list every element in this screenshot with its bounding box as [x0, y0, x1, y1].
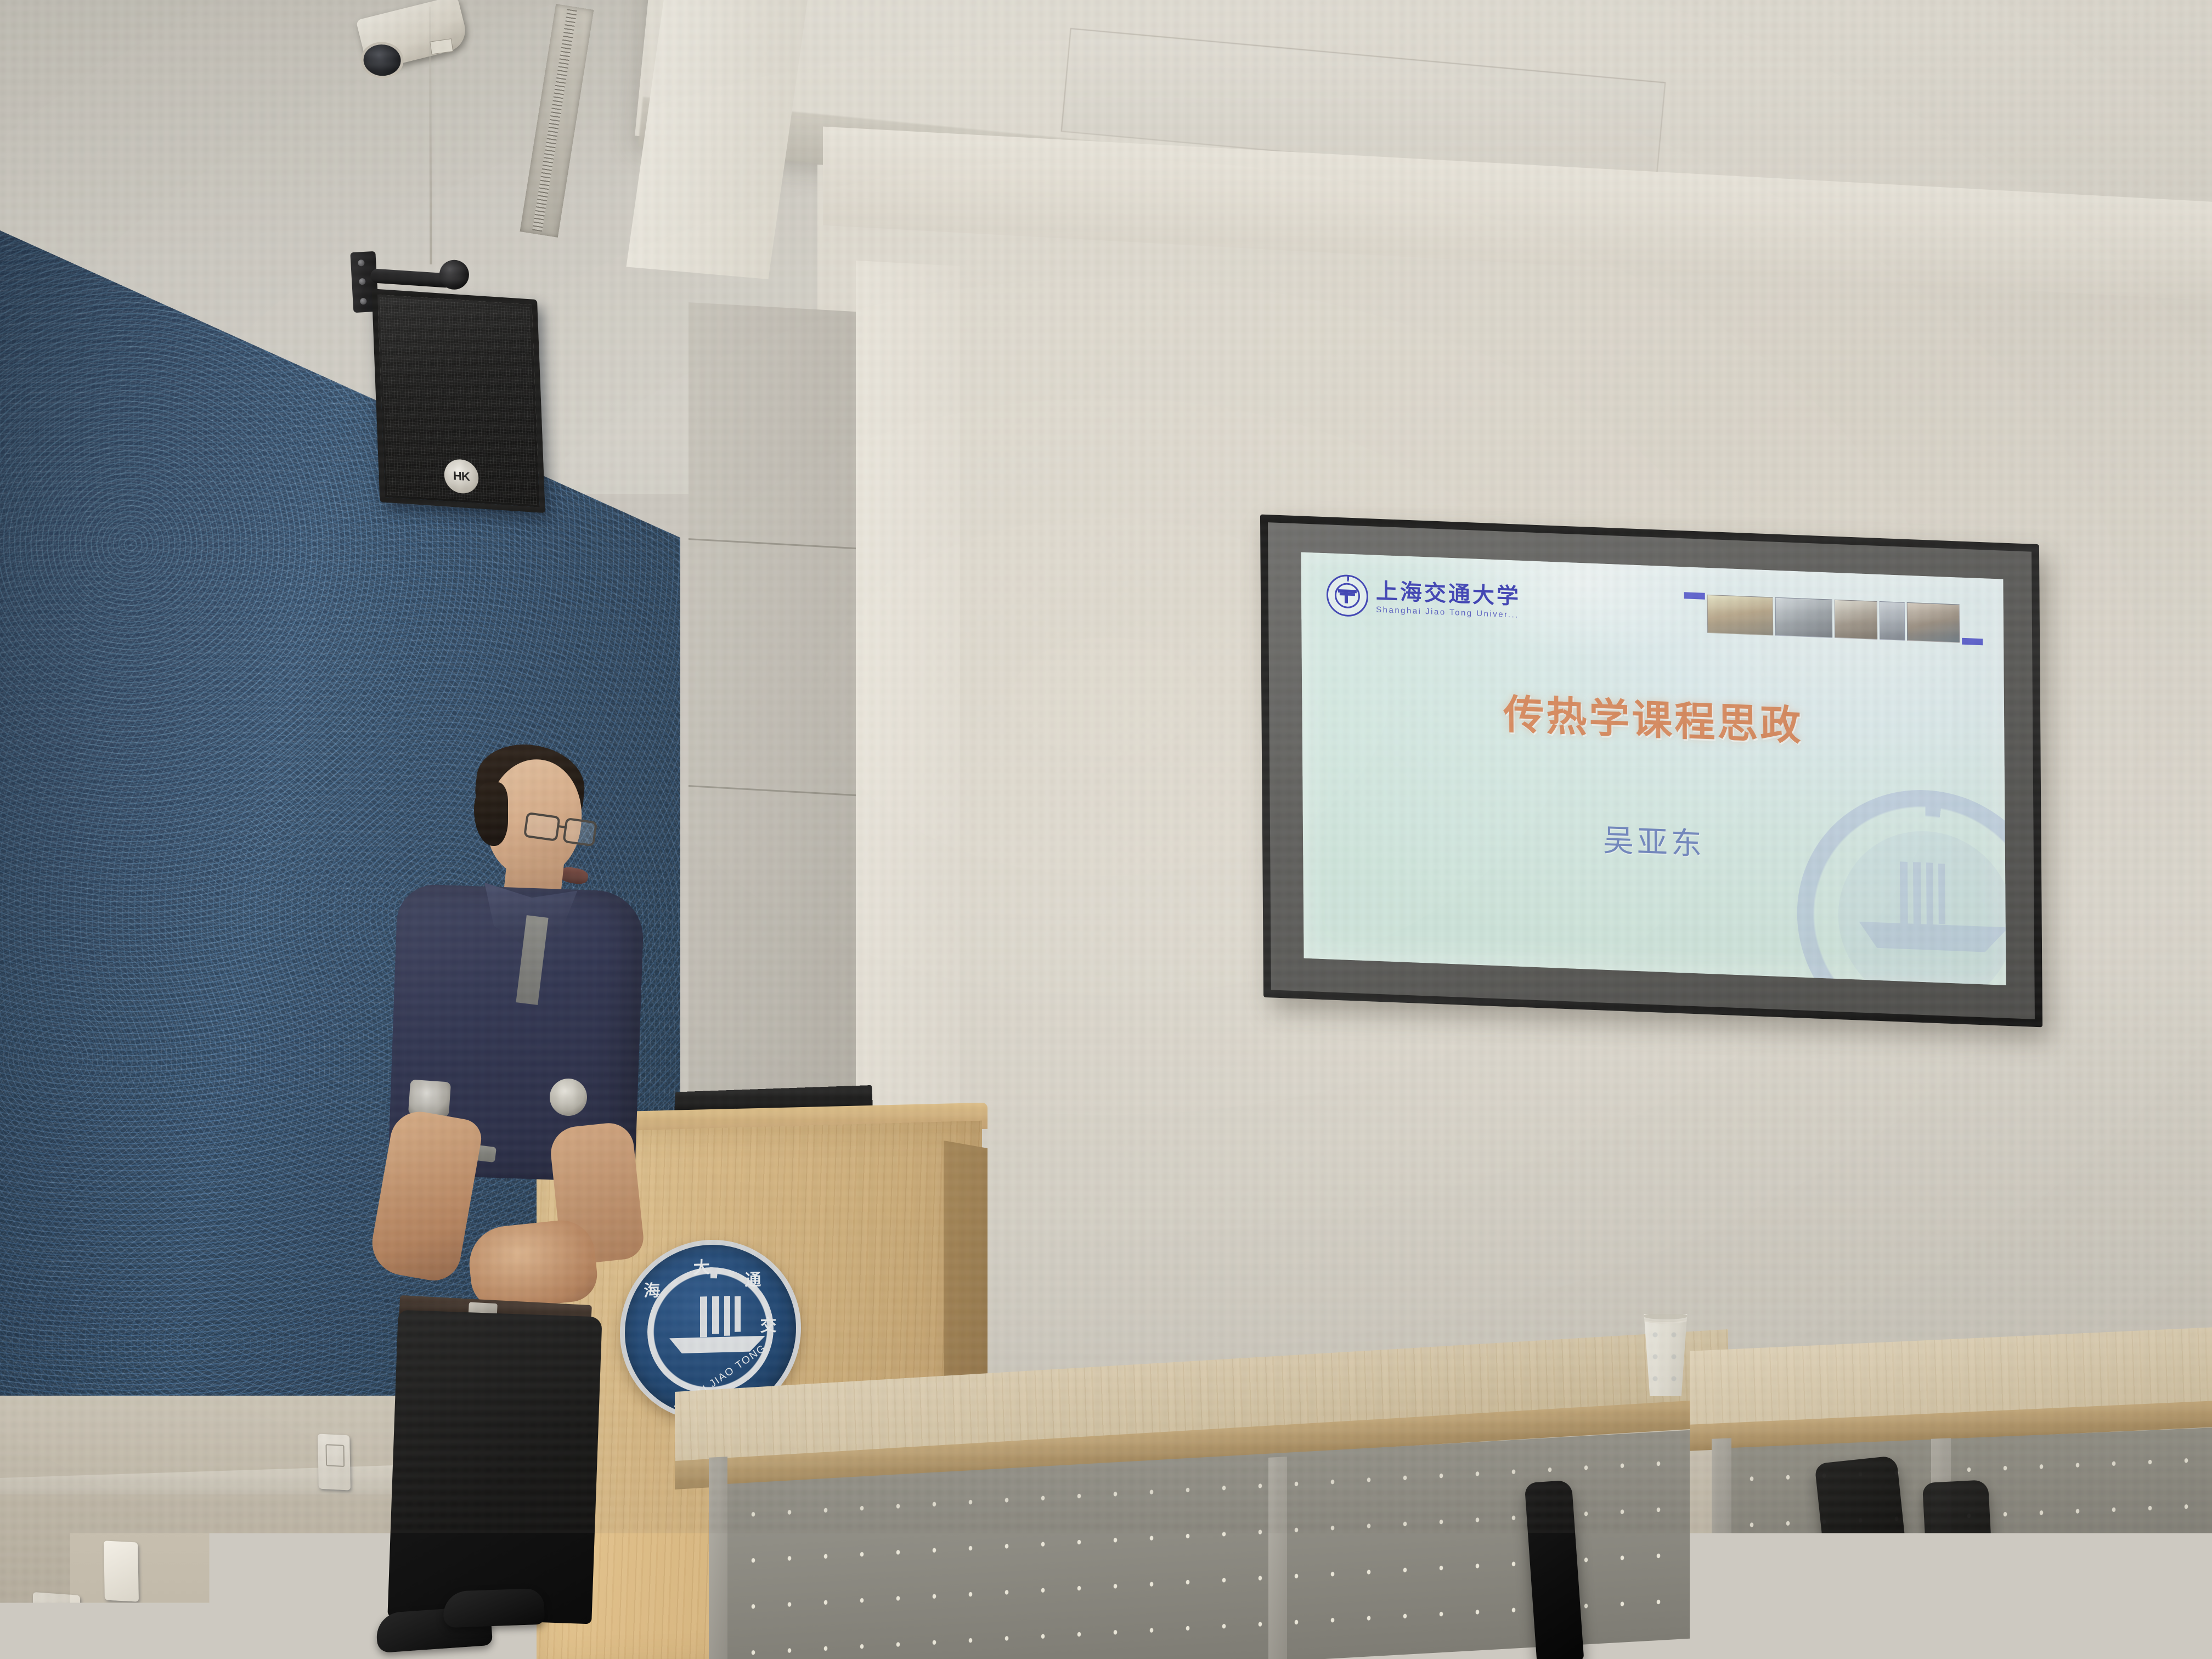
- campus-photo-3: [1835, 600, 1877, 640]
- university-logo: 上海交通大学 Shanghai Jiao Tong Univer...: [1327, 574, 1521, 623]
- emblem-char-1: 大: [693, 1254, 710, 1278]
- lecture-hall-scene: HK 上海交通大学 Shanghai Jiao Tong Univer...: [0, 0, 2212, 1659]
- strip-tag-end: [1962, 638, 1983, 645]
- sjtu-seal-icon: [1327, 574, 1369, 617]
- presenter-sideburn: [474, 782, 508, 846]
- cup-pattern: [1646, 1324, 1685, 1389]
- projector-screen[interactable]: 上海交通大学 Shanghai Jiao Tong Univer...: [1260, 515, 2042, 1028]
- chair-right-1[interactable]: [1814, 1455, 1910, 1600]
- wall-outlet-icon[interactable]: [33, 1592, 80, 1627]
- panel-seam: [689, 538, 864, 550]
- emblem-char-2: 通: [744, 1266, 761, 1290]
- emblem-char-3: 交: [760, 1312, 776, 1336]
- screen-frame: 上海交通大学 Shanghai Jiao Tong Univer...: [1268, 522, 2035, 1019]
- campus-photo-strip: [1684, 592, 1983, 645]
- slide-title: 传热学课程思政: [1302, 674, 2005, 760]
- presenter-trousers: [387, 1310, 602, 1624]
- campus-photo-5: [1907, 602, 1960, 643]
- chair-right-2[interactable]: [1922, 1480, 1995, 1615]
- wall-loudspeaker: HK: [343, 236, 567, 532]
- speaker-cabinet: HK: [371, 289, 545, 513]
- presenter-left-arm: [367, 1107, 484, 1285]
- desk-leg: [1712, 1438, 1731, 1659]
- glasses-right-lens: [562, 817, 597, 847]
- presenter-shoe: [443, 1588, 545, 1628]
- presenter-hands: [466, 1217, 600, 1312]
- university-name-block: 上海交通大学 Shanghai Jiao Tong Univer...: [1376, 580, 1521, 619]
- wall-outlet-icon[interactable]: [104, 1541, 139, 1601]
- camera-label: [430, 38, 453, 54]
- campus-photo-1: [1707, 595, 1773, 636]
- strip-tag-start: [1684, 592, 1705, 599]
- glasses-left-lens: [523, 812, 561, 842]
- desk-leg: [1268, 1457, 1287, 1659]
- campus-photo-2: [1775, 597, 1832, 638]
- panel-seam: [689, 785, 864, 797]
- sjtu-gear-watermark-icon: [1796, 785, 2006, 985]
- presentation-slide[interactable]: 上海交通大学 Shanghai Jiao Tong Univer...: [1301, 552, 2006, 985]
- desk-leg: [709, 1457, 727, 1659]
- university-name-cn: 上海交通大学: [1376, 580, 1521, 607]
- presenter: [340, 730, 669, 1659]
- campus-photo-4: [1880, 601, 1905, 641]
